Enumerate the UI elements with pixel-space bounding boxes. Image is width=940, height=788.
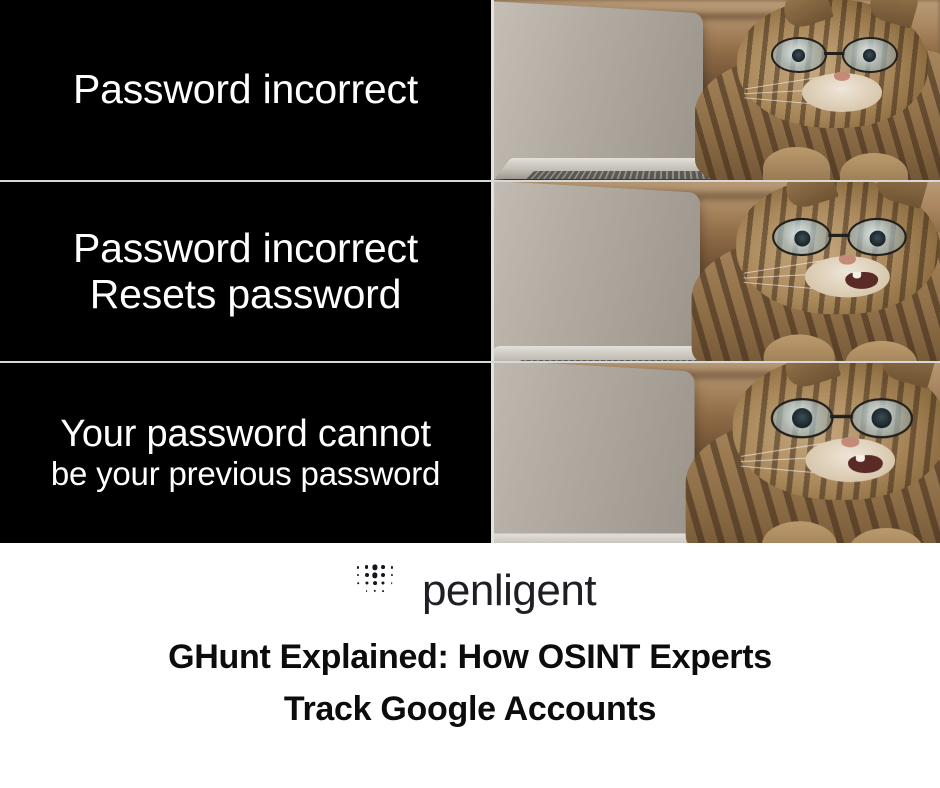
cat-ear-right [866,0,921,29]
cat-eye-left [792,409,813,429]
cat-head [732,363,940,500]
glasses-lens-left [771,399,833,439]
cat [690,0,940,180]
cat-ear-left [778,363,840,391]
cat-laptop-photo-3 [494,363,940,543]
cat-ear-left [778,0,834,31]
laptop-lid [494,0,703,180]
logo-dot [365,573,369,577]
cat-tooth [853,271,861,278]
meme-panel-2: Password incorrect Resets password [0,182,940,364]
logo-dot [357,574,359,576]
caption-cell-2: Password incorrect Resets password [0,182,494,362]
laptop-keyboard [526,171,709,179]
logo-dot [382,582,385,585]
cat-nose [839,255,855,265]
cat-tooth [847,88,855,95]
page-title-line-2: Track Google Accounts [0,684,940,736]
cat [687,182,940,362]
cat [680,363,940,543]
logo-dot [381,566,385,570]
caption-line-2-1: Password incorrect [73,226,418,272]
glasses-lens-left [772,218,831,256]
caption-cell-1: Password incorrect [0,0,494,180]
logo-dot [357,566,359,568]
photo-cell-1 [494,0,940,180]
caption-cell-3: Your password cannot be your previous pa… [0,363,494,543]
cat-eye-right [869,230,885,246]
photo-cell-2 [494,182,940,362]
brand-wordmark: penligent [422,569,596,613]
cat-ear-right [878,363,939,389]
logo-dot [366,590,368,592]
laptop-lid [494,182,700,362]
brand-lockup: penligent [0,552,940,630]
laptop-keyboard [512,359,706,361]
caption-line-2-2: Resets password [90,272,401,318]
page-title: GHunt Explained: How OSINT Experts Track… [0,632,940,735]
logo-dot [382,590,384,592]
logo-dot [381,573,385,577]
logo-dot [391,566,393,568]
logo-dot [391,574,393,576]
meme-panel-1: Password incorrect [0,0,940,182]
logo-dot [372,573,377,578]
glasses-lens-right [850,399,912,439]
logo-dot [365,582,368,585]
cat-head [737,0,928,128]
page-title-line-1: GHunt Explained: How OSINT Experts [0,632,940,684]
glasses-lens-right [847,218,906,256]
caption-line-1-1: Password incorrect [73,67,418,113]
logo-dot [372,565,377,570]
photo-cell-3 [494,363,940,543]
cat-eye-left [794,230,810,246]
round-glasses-icon [771,399,912,439]
cat-eye-right [863,49,876,62]
poster-canvas: Password incorrect [0,0,940,788]
meme-block: Password incorrect [0,0,940,543]
logo-dot [365,566,369,570]
cat-laptop-photo-2 [494,182,940,362]
caption-line-3-2: be your previous password [51,456,440,493]
glasses-lens-left [771,37,827,73]
cat-mouth [845,271,877,289]
cat-eye-right [871,409,892,429]
cat-ear-left [779,182,838,211]
glasses-lens-right [842,37,898,73]
logo-dot [391,582,393,584]
cat-eye-left [792,49,805,62]
penligent-dot-dome-icon [344,562,406,620]
round-glasses-icon [772,218,906,256]
cat-tooth [856,455,865,463]
meme-panel-3: Your password cannot be your previous pa… [0,363,940,543]
cat-ear-right [873,182,931,209]
logo-dot [374,590,376,592]
caption-line-3-1: Your password cannot [60,413,431,456]
cat-laptop-photo-1 [494,0,940,180]
logo-dot [373,581,377,585]
cat-head [736,182,939,314]
laptop-lid [494,363,695,543]
round-glasses-icon [771,37,897,73]
logo-dot [357,582,359,584]
